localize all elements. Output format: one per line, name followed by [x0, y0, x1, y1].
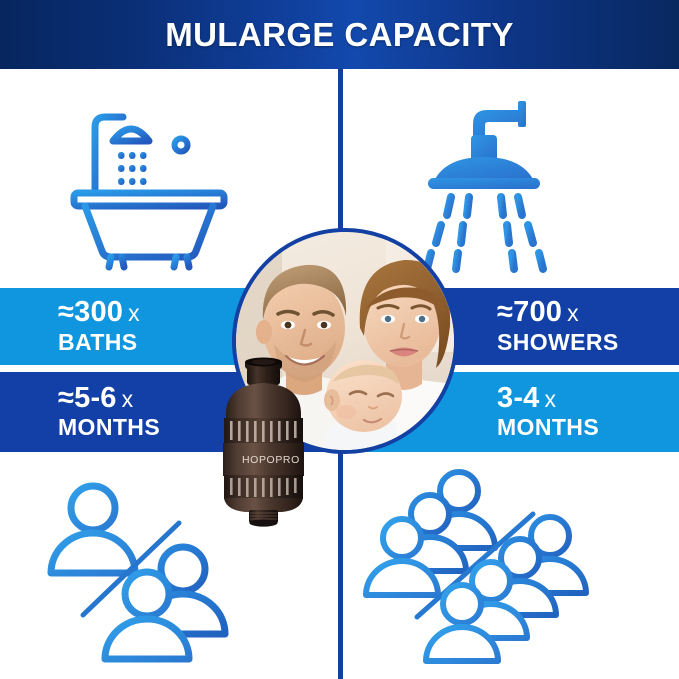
stat-label-shower-months: MONTHS [497, 415, 679, 441]
three-people-vs-four-people-icon [375, 462, 645, 662]
stat-label-showers: SHOWERS [497, 330, 679, 356]
stat-suffix-shower-months: x [545, 386, 557, 412]
quadrant-bottom-right [350, 452, 670, 672]
stat-suffix-baths: x [128, 300, 140, 326]
stat-suffix-bath-months: x [122, 386, 134, 412]
product-brand-text: HOPOPRO [242, 454, 300, 466]
page-title: MULARGE CAPACITY [165, 18, 514, 51]
product-shower-filter: HOPOPRO [212, 358, 316, 528]
stat-suffix-showers: x [567, 300, 579, 326]
infographic-poster: MULARGE CAPACITY [0, 0, 679, 679]
stat-value-showers: ≈700x [497, 297, 679, 328]
header-banner: MULARGE CAPACITY [0, 0, 679, 69]
stat-number-shower-months: 3-4 [497, 382, 540, 414]
stat-number-bath-months: ≈5-6 [58, 382, 117, 414]
stat-number-showers: ≈700 [497, 296, 562, 328]
stat-value-shower-months: 3-4x [497, 383, 679, 414]
stat-number-baths: ≈300 [58, 296, 123, 328]
